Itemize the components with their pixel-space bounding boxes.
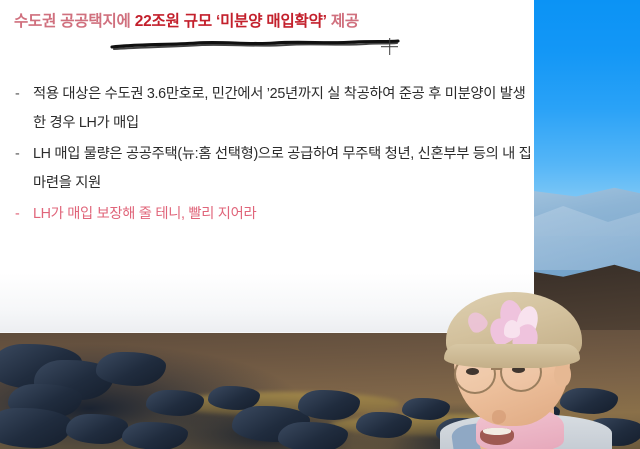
bullet-text: 적용 대상은 수도권 3.6만호로, 민간에서 ’25년까지 실 착공하여 준공… — [33, 86, 526, 131]
flower-center-icon — [504, 320, 520, 338]
bullet-marker: - — [15, 140, 19, 169]
bullet-list: - 적용 대상은 수도권 3.6만호로, 민간에서 ’25년까지 실 착공하여 … — [0, 80, 534, 231]
rock-formation — [298, 390, 360, 420]
title-segment-2: 22조원 — [135, 13, 180, 30]
flower-petal-icon — [464, 309, 490, 336]
rock-formation — [96, 352, 166, 386]
title-segment-4: 규모 ‘미분양 매입확약’ — [184, 13, 327, 30]
bullet-text: LH 매입 물량은 공공주택(뉴:홈 선택형)으로 공급하여 무주택 청년, 신… — [33, 146, 532, 191]
mouth — [480, 428, 514, 445]
rock-formation — [146, 390, 204, 416]
beanie-brim — [444, 344, 580, 368]
rock-formation — [0, 408, 72, 448]
title-segment-5: 제공 — [327, 13, 359, 30]
rock-formation — [66, 414, 128, 444]
title-segment-1: 수도권 공공택지에 — [14, 13, 135, 30]
rock-formation — [356, 412, 412, 438]
teeth — [483, 428, 511, 435]
presentation-slide: 수도권 공공택지에 22조원 규모 ‘미분양 매입확약’ 제공 - 적용 대상은… — [0, 0, 534, 333]
bullet-item-1: - 적용 대상은 수도권 3.6만호로, 민간에서 ’25년까지 실 착공하여 … — [0, 80, 533, 138]
bullet-marker: - — [15, 80, 19, 109]
bullet-marker: - — [15, 200, 19, 229]
slide-title: 수도권 공공택지에 22조원 규모 ‘미분양 매입확약’ 제공 — [14, 12, 359, 31]
crosshair-cursor-icon — [381, 38, 398, 55]
bullet-text: LH가 매입 보장해 줄 테니, 빨리 지어라 — [33, 206, 256, 222]
nose — [492, 410, 506, 424]
rock-formation — [122, 422, 188, 449]
bullet-item-2: - LH 매입 물량은 공공주택(뉴:홈 선택형)으로 공급하여 무주택 청년,… — [0, 140, 533, 198]
screen-share-frame: 수도권 공공택지에 22조원 규모 ‘미분양 매입확약’ 제공 - 적용 대상은… — [0, 0, 640, 449]
slide-right-edge — [533, 0, 534, 333]
bullet-item-3: - LH가 매입 보장해 줄 테니, 빨리 지어라 — [0, 200, 533, 229]
hand-drawn-underline — [110, 34, 400, 56]
eyeglass-bridge — [491, 368, 502, 370]
rock-formation — [278, 422, 348, 449]
webcam-overlay[interactable] — [438, 288, 640, 449]
